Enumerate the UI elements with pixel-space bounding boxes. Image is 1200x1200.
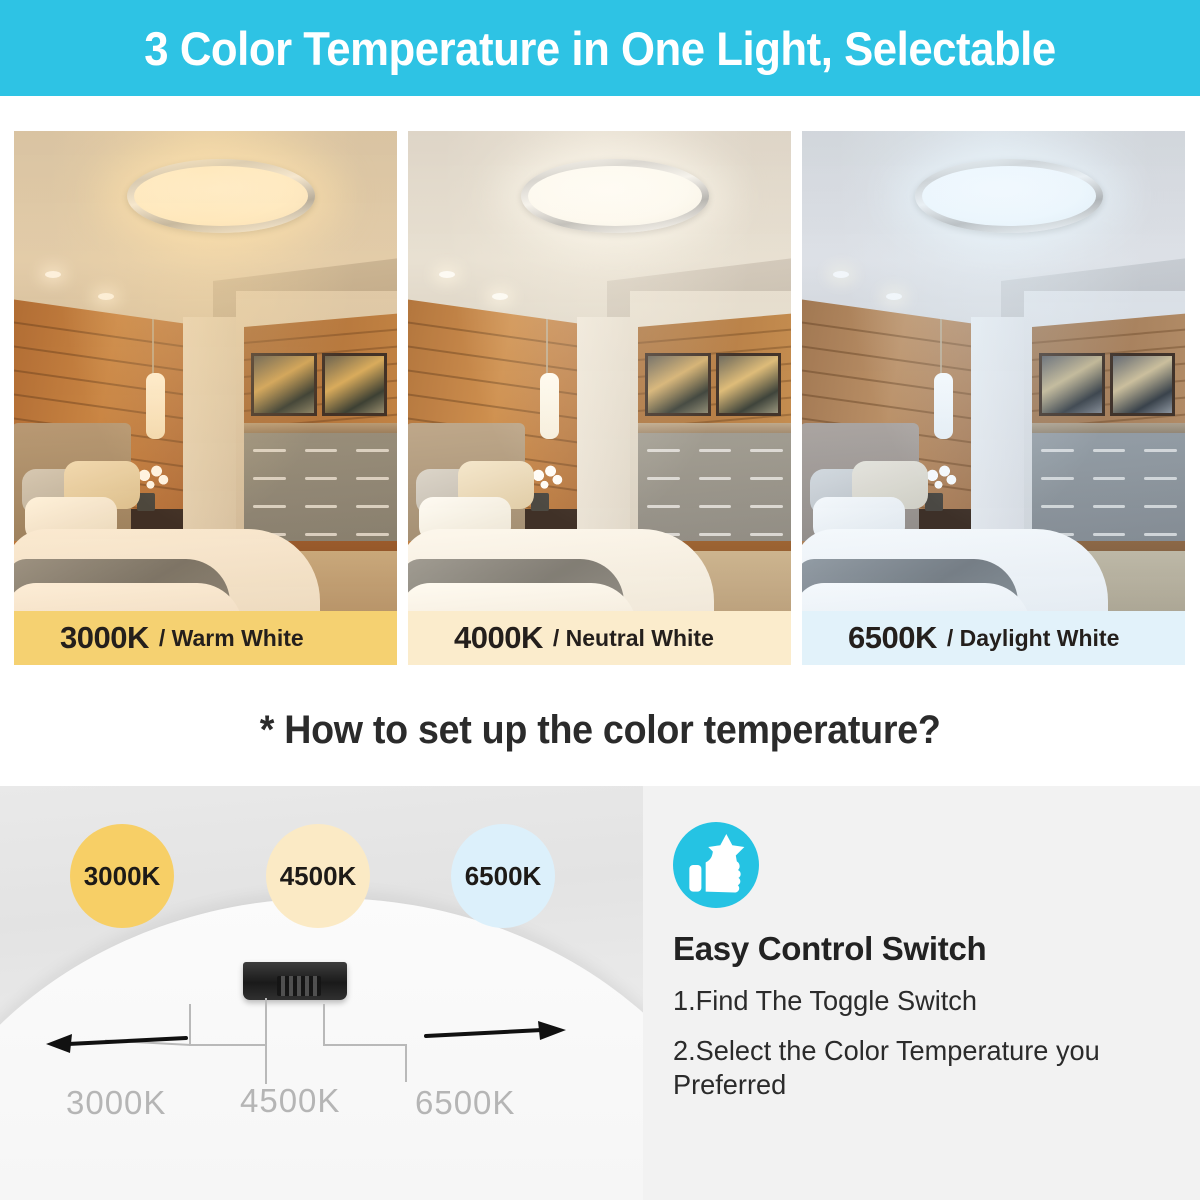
infographic-page: 3 Color Temperature in One Light, Select… bbox=[0, 0, 1200, 1200]
banner-title: 3 Color Temperature in One Light, Select… bbox=[144, 21, 1055, 76]
label-bar-4000k: 4000K / Neutral White bbox=[408, 611, 791, 665]
tick-right bbox=[323, 1004, 325, 1046]
instructions-title: Easy Control Switch bbox=[673, 930, 1174, 968]
howto-section: * How to set up the color temperature? bbox=[0, 688, 1200, 772]
temperature-panel-3000k: 3000K / Warm White bbox=[14, 131, 397, 665]
toggle-switch[interactable] bbox=[243, 962, 347, 1000]
printed-label-3000k: 3000K bbox=[66, 1084, 166, 1122]
howto-heading: * How to set up the color temperature? bbox=[260, 708, 941, 753]
switch-closeup-photo: 3000K 4500K 6500K bbox=[0, 786, 643, 1200]
wall-art bbox=[1039, 353, 1104, 416]
chip-3000k: 3000K bbox=[70, 824, 174, 928]
printed-label-4500k: 4500K bbox=[240, 1082, 340, 1120]
wall-art bbox=[251, 353, 316, 416]
bedroom-photo-daylight bbox=[802, 131, 1185, 611]
chip-6500k: 6500K bbox=[451, 824, 555, 928]
wall-art bbox=[716, 353, 781, 416]
bedroom-photo-neutral bbox=[408, 131, 791, 611]
kelvin-name: / Daylight White bbox=[947, 625, 1120, 652]
kelvin-name: / Neutral White bbox=[553, 625, 714, 652]
wall-art bbox=[322, 353, 387, 416]
label-bar-6500k: 6500K / Daylight White bbox=[802, 611, 1185, 665]
ceiling-light-fixture bbox=[127, 159, 315, 233]
chip-4500k: 4500K bbox=[266, 824, 370, 928]
temperature-panel-group: 3000K / Warm White bbox=[14, 131, 1186, 665]
bottom-section: 3000K 4500K 6500K bbox=[0, 786, 1200, 1200]
tick-left-arm bbox=[189, 1044, 267, 1046]
tick-right-arm bbox=[323, 1044, 407, 1046]
wall-art bbox=[645, 353, 710, 416]
bedroom-photo-warm bbox=[14, 131, 397, 611]
kelvin-value: 6500K bbox=[848, 620, 937, 656]
thumbs-up-star-icon bbox=[673, 822, 759, 908]
instruction-step-2: 2.Select the Color Temperature you Prefe… bbox=[673, 1034, 1159, 1102]
temperature-panel-4000k: 4000K / Neutral White bbox=[408, 131, 791, 665]
kelvin-value: 3000K bbox=[60, 620, 149, 656]
kelvin-name: / Warm White bbox=[159, 625, 304, 652]
ceiling-light-fixture bbox=[521, 159, 709, 233]
temperature-panel-6500k: 6500K / Daylight White bbox=[802, 131, 1185, 665]
instructions-panel: Easy Control Switch 1.Find The Toggle Sw… bbox=[643, 786, 1200, 1200]
label-bar-3000k: 3000K / Warm White bbox=[14, 611, 397, 665]
toggle-switch-teeth bbox=[277, 976, 321, 996]
printed-label-6500k: 6500K bbox=[415, 1084, 515, 1122]
kelvin-value: 4000K bbox=[454, 620, 543, 656]
header-banner: 3 Color Temperature in One Light, Select… bbox=[0, 0, 1200, 96]
left-arrow-icon bbox=[38, 1022, 198, 1062]
wall-art bbox=[1110, 353, 1175, 416]
ceiling-light-fixture bbox=[915, 159, 1103, 233]
right-arrow-icon bbox=[420, 1016, 580, 1056]
instruction-step-1: 1.Find The Toggle Switch bbox=[673, 984, 1159, 1018]
tick-right-drop bbox=[405, 1044, 407, 1082]
tick-center-left bbox=[265, 998, 267, 1084]
